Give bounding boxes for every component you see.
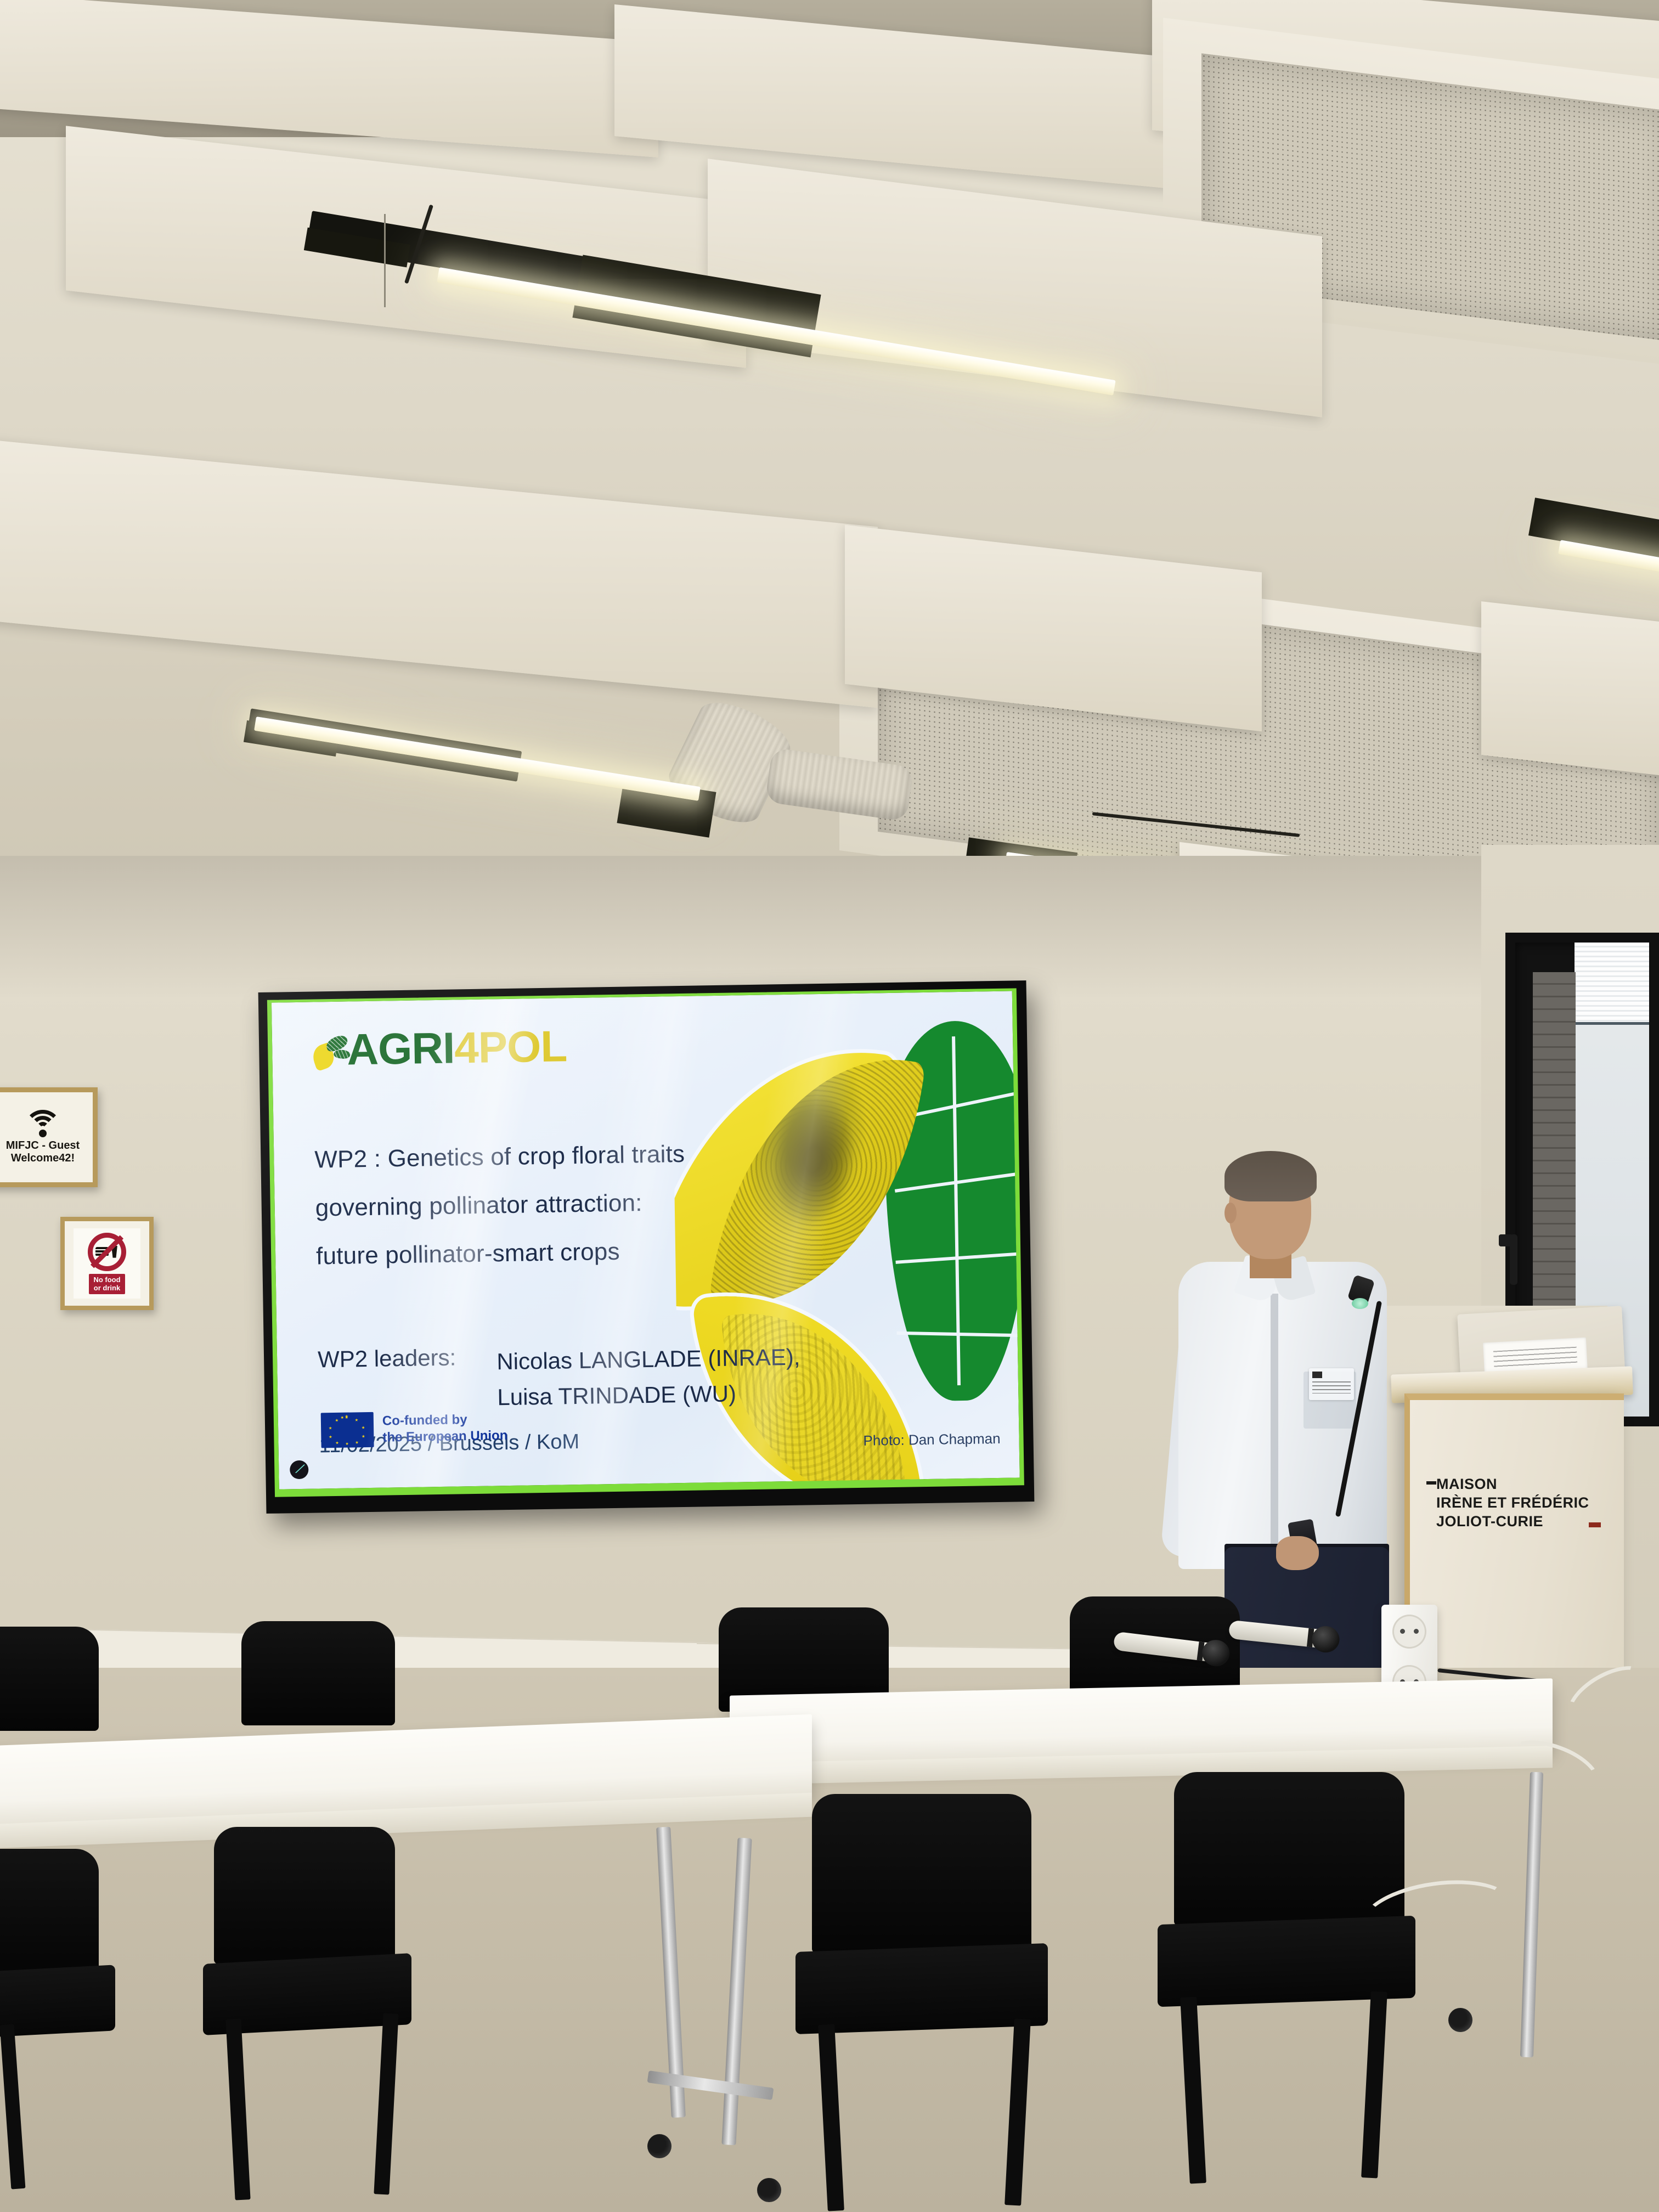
leaders-label: WP2 leaders:: [318, 1344, 457, 1418]
logo-text-4pol: 4POL: [454, 1022, 567, 1072]
wifi-icon: [22, 1110, 63, 1136]
leader-name-2: Luisa TRINDADE (WU): [497, 1375, 801, 1415]
ceiling-rod-1: [384, 214, 386, 307]
eu-funding-caption: Co-funded by the European Union: [382, 1411, 508, 1446]
agri4pol-logo: AGRI4POL: [312, 1020, 989, 1070]
no-food-sign: No food or drink: [60, 1217, 154, 1310]
ceiling: [0, 0, 1659, 982]
chair-front-1[interactable]: [0, 1849, 99, 1975]
speaker-hand: [1276, 1536, 1319, 1570]
window-handle[interactable]: [1510, 1234, 1517, 1285]
slide-title-line-3: future pollinator-smart crops: [316, 1226, 733, 1281]
chair-seat-1: [0, 1965, 115, 2040]
speaker-name-badge: [1309, 1368, 1354, 1400]
chair-front-3[interactable]: [812, 1794, 1031, 1953]
table-caster-1: [647, 2134, 672, 2158]
wp2-leaders-block: WP2 leaders: Nicolas LANGLADE (INRAE), L…: [318, 1336, 995, 1418]
eu-funding-logo: Co-funded by the European Union: [321, 1410, 508, 1448]
ceiling-panel-8: [1481, 601, 1659, 781]
laptop-screen-text: [1493, 1347, 1578, 1370]
slide-title-line-1: WP2 : Genetics of crop floral traits: [314, 1130, 732, 1184]
logo-text-agri: AGRI: [347, 1023, 455, 1074]
venue-line-1: MAISON: [1436, 1475, 1617, 1493]
no-food-label: No food or drink: [89, 1274, 125, 1295]
photo-credit: Photo: Dan Chapman: [863, 1430, 1001, 1449]
wall-mounted-display[interactable]: AGRI4POL WP2 : Genetics of crop floral t…: [258, 980, 1035, 1514]
no-food-or-drink-icon: [88, 1233, 126, 1271]
microphone-status-light: [1352, 1298, 1368, 1309]
chair-front-4[interactable]: [1174, 1772, 1404, 1926]
table-caster-2: [757, 2178, 781, 2202]
butterfly-bee-icon: [312, 1035, 351, 1070]
led-light-strip-3: [254, 716, 701, 801]
window-view-blind: [1575, 943, 1649, 1025]
ceiling-panel-6: [0, 439, 878, 708]
wifi-password-label: Welcome42!: [11, 1152, 75, 1165]
lectern-dash-mark: [1426, 1481, 1436, 1485]
venue-line-3: JOLIOT-CURIE: [1436, 1512, 1617, 1531]
wall-shadow: [0, 856, 1481, 998]
chair-back-2[interactable]: [241, 1621, 395, 1725]
eu-flag-icon: [321, 1412, 374, 1448]
slide-title: WP2 : Genetics of crop floral traits gov…: [314, 1130, 733, 1281]
lectern-red-accent: [1589, 1522, 1601, 1527]
exterior-window-2: [1657, 1233, 1659, 1338]
chair-front-2[interactable]: [214, 1827, 395, 1964]
room-photo-scene: MIFJC - Guest Welcome42! No food or drin…: [0, 0, 1659, 2212]
presentation-slide: AGRI4POL WP2 : Genetics of crop floral t…: [267, 988, 1024, 1497]
wifi-info-sign: MIFJC - Guest Welcome42!: [0, 1087, 98, 1187]
chair-back-1[interactable]: [0, 1627, 99, 1731]
venue-line-2: IRÈNE ET FRÉDÉRIC: [1436, 1493, 1617, 1512]
speaker-hair: [1224, 1151, 1317, 1201]
power-socket-1[interactable]: [1392, 1615, 1426, 1649]
slide-title-line-2: governing pollinator attraction:: [315, 1178, 732, 1233]
leader-name-1: Nicolas LANGLADE (INRAE),: [496, 1339, 800, 1380]
table-caster-3: [1448, 2008, 1472, 2032]
exterior-window-1: [1657, 1085, 1659, 1189]
chair-seat-3: [795, 1943, 1048, 2034]
leaders-names: Nicolas LANGLADE (INRAE), Luisa TRINDADE…: [496, 1339, 801, 1415]
